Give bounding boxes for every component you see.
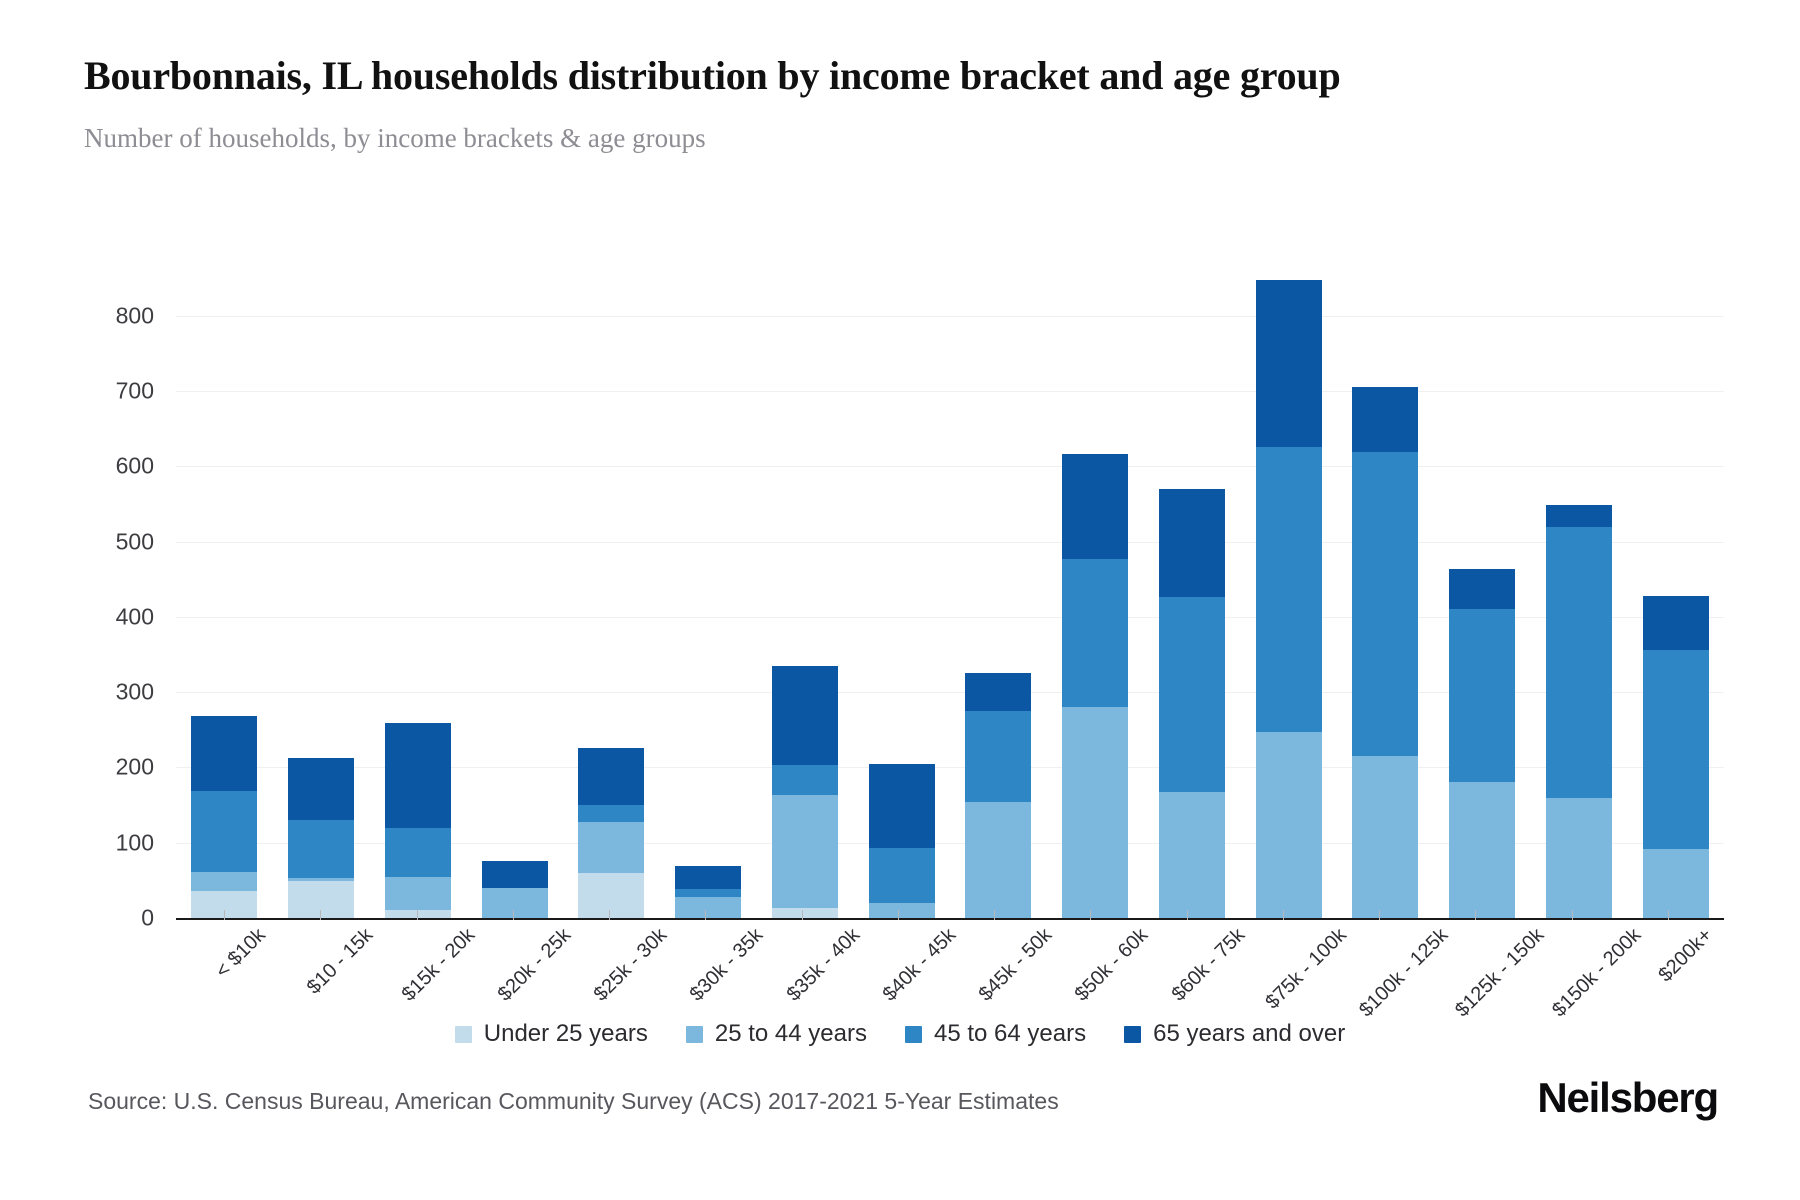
x-axis-tick-label: < $10k <box>212 924 271 983</box>
bar-segment[interactable] <box>1449 782 1515 918</box>
y-axis-tick-label: 300 <box>116 679 154 706</box>
bar-segment[interactable] <box>482 888 548 918</box>
legend-swatch-icon <box>686 1026 703 1043</box>
bar-segment[interactable] <box>191 716 257 791</box>
legend-item[interactable]: 25 to 44 years <box>686 1020 867 1048</box>
chart-header: Bourbonnais, IL households distribution … <box>84 52 1684 156</box>
bar-segment[interactable] <box>1449 609 1515 781</box>
bar-segment[interactable] <box>772 908 838 918</box>
bar-stack[interactable] <box>965 673 1031 918</box>
bar-stack[interactable] <box>385 723 451 918</box>
bar-group[interactable] <box>757 278 854 918</box>
x-axis-tick <box>1379 910 1380 920</box>
bar-segment[interactable] <box>1159 792 1225 918</box>
page-title: Bourbonnais, IL households distribution … <box>84 52 1664 99</box>
bar-segment[interactable] <box>965 673 1031 711</box>
bar-group[interactable] <box>1434 278 1531 918</box>
bar-segment[interactable] <box>1352 452 1418 756</box>
legend-item[interactable]: 65 years and over <box>1124 1020 1345 1048</box>
bar-stack[interactable] <box>191 716 257 918</box>
bar-group[interactable] <box>466 278 563 918</box>
bar-segment[interactable] <box>578 748 644 805</box>
y-axis-tick-label: 800 <box>116 302 154 329</box>
bar-segment[interactable] <box>869 903 935 918</box>
x-axis-tick <box>1668 910 1669 920</box>
bar-segment[interactable] <box>385 910 451 918</box>
x-axis-tick <box>1283 910 1284 920</box>
bar-group[interactable] <box>1531 278 1628 918</box>
chart-legend: Under 25 years25 to 44 years45 to 64 yea… <box>0 1020 1800 1048</box>
brand-logo: Neilsberg <box>1537 1074 1718 1122</box>
x-axis-tick <box>1475 910 1476 920</box>
bar-segment[interactable] <box>675 889 741 897</box>
y-axis-tick-label: 500 <box>116 528 154 555</box>
chart-page: Bourbonnais, IL households distribution … <box>0 0 1800 1200</box>
y-axis-tick-label: 600 <box>116 453 154 480</box>
bar-segment[interactable] <box>385 877 451 910</box>
legend-label: 25 to 44 years <box>715 1020 867 1048</box>
bar-stack[interactable] <box>1643 596 1709 918</box>
bar-segment[interactable] <box>578 873 644 918</box>
bar-segment[interactable] <box>482 861 548 888</box>
legend-swatch-icon <box>905 1026 922 1043</box>
bar-segment[interactable] <box>1546 527 1612 798</box>
legend-item[interactable]: Under 25 years <box>455 1020 648 1048</box>
legend-label: Under 25 years <box>484 1020 648 1048</box>
bar-segment[interactable] <box>772 795 838 909</box>
bar-segment[interactable] <box>1256 447 1322 732</box>
x-axis-tick <box>609 910 610 920</box>
bar-segment[interactable] <box>869 764 935 848</box>
bar-stack[interactable] <box>288 758 354 918</box>
bar-segment[interactable] <box>385 828 451 877</box>
x-axis-tick <box>320 910 321 920</box>
bars-layer <box>176 278 1724 918</box>
bar-stack[interactable] <box>1352 387 1418 918</box>
bar-group[interactable] <box>176 278 273 918</box>
x-axis-line <box>176 918 1724 920</box>
bar-group[interactable] <box>660 278 757 918</box>
y-axis-tick-label: 0 <box>141 905 154 932</box>
bar-segment[interactable] <box>1256 280 1322 447</box>
bar-segment[interactable] <box>965 802 1031 918</box>
legend-label: 65 years and over <box>1153 1020 1345 1048</box>
bar-stack[interactable] <box>1062 454 1128 918</box>
bar-segment[interactable] <box>965 711 1031 802</box>
y-axis-tick-label: 700 <box>116 377 154 404</box>
bar-group[interactable] <box>1047 278 1144 918</box>
x-axis-tick-label: $10 - 15k <box>303 924 378 999</box>
bar-group[interactable] <box>1144 278 1241 918</box>
bar-segment[interactable] <box>288 820 354 878</box>
bar-segment[interactable] <box>191 872 257 891</box>
y-axis-tick-label: 400 <box>116 603 154 630</box>
bar-group[interactable] <box>1337 278 1434 918</box>
bar-stack[interactable] <box>1256 280 1322 918</box>
legend-swatch-icon <box>1124 1026 1141 1043</box>
y-axis-tick-label: 100 <box>116 829 154 856</box>
bar-stack[interactable] <box>675 866 741 918</box>
plot-area: 0100200300400500600700800 <box>84 278 1724 918</box>
source-note: Source: U.S. Census Bureau, American Com… <box>88 1088 1059 1115</box>
bar-segment[interactable] <box>1256 732 1322 918</box>
x-axis-tick <box>802 910 803 920</box>
bar-segment[interactable] <box>675 866 741 889</box>
bar-stack[interactable] <box>1449 569 1515 918</box>
bar-stack[interactable] <box>772 666 838 918</box>
bar-group[interactable] <box>950 278 1047 918</box>
bar-segment[interactable] <box>1062 454 1128 559</box>
bar-segment[interactable] <box>578 805 644 822</box>
bar-group[interactable] <box>1240 278 1337 918</box>
bar-segment[interactable] <box>1449 569 1515 610</box>
bar-group[interactable] <box>563 278 660 918</box>
bar-segment[interactable] <box>1159 597 1225 792</box>
bar-segment[interactable] <box>869 848 935 903</box>
x-axis-tick <box>898 910 899 920</box>
bar-segment[interactable] <box>1546 505 1612 528</box>
legend-label: 45 to 64 years <box>934 1020 1086 1048</box>
y-axis-tick-label: 200 <box>116 754 154 781</box>
bar-stack[interactable] <box>1546 505 1612 918</box>
x-axis-tick-label: $200k+ <box>1654 924 1717 987</box>
bar-stack[interactable] <box>482 861 548 918</box>
bar-segment[interactable] <box>1546 798 1612 918</box>
x-axis-tick <box>417 910 418 920</box>
bar-segment[interactable] <box>1352 387 1418 452</box>
bar-stack[interactable] <box>1159 489 1225 918</box>
x-axis-tick <box>224 910 225 920</box>
bar-segment[interactable] <box>1352 756 1418 918</box>
bar-segment[interactable] <box>772 666 838 765</box>
bar-stack[interactable] <box>578 748 644 918</box>
x-axis-tick <box>705 910 706 920</box>
legend-item[interactable]: 45 to 64 years <box>905 1020 1086 1048</box>
bar-stack[interactable] <box>869 764 935 918</box>
bar-segment[interactable] <box>385 723 451 828</box>
x-axis-tick <box>1572 910 1573 920</box>
x-axis-tick <box>513 910 514 920</box>
bar-segment[interactable] <box>1159 489 1225 597</box>
bar-segment[interactable] <box>675 897 741 918</box>
bar-group[interactable] <box>853 278 950 918</box>
x-axis-tick <box>1090 910 1091 920</box>
bar-segment[interactable] <box>1643 650 1709 850</box>
x-axis-tick <box>994 910 995 920</box>
bar-segment[interactable] <box>1062 707 1128 918</box>
chart-subtitle: Number of households, by income brackets… <box>84 121 1684 156</box>
bar-group[interactable] <box>273 278 370 918</box>
bar-segment[interactable] <box>1062 559 1128 707</box>
y-axis: 0100200300400500600700800 <box>84 278 166 918</box>
bar-segment[interactable] <box>772 765 838 794</box>
bar-segment[interactable] <box>578 822 644 873</box>
bar-group[interactable] <box>1627 278 1724 918</box>
bar-segment[interactable] <box>288 758 354 820</box>
x-axis-tick <box>1187 910 1188 920</box>
bar-segment[interactable] <box>191 791 257 872</box>
bar-segment[interactable] <box>1643 596 1709 650</box>
bar-segment[interactable] <box>1643 849 1709 918</box>
legend-swatch-icon <box>455 1026 472 1043</box>
bar-group[interactable] <box>370 278 467 918</box>
